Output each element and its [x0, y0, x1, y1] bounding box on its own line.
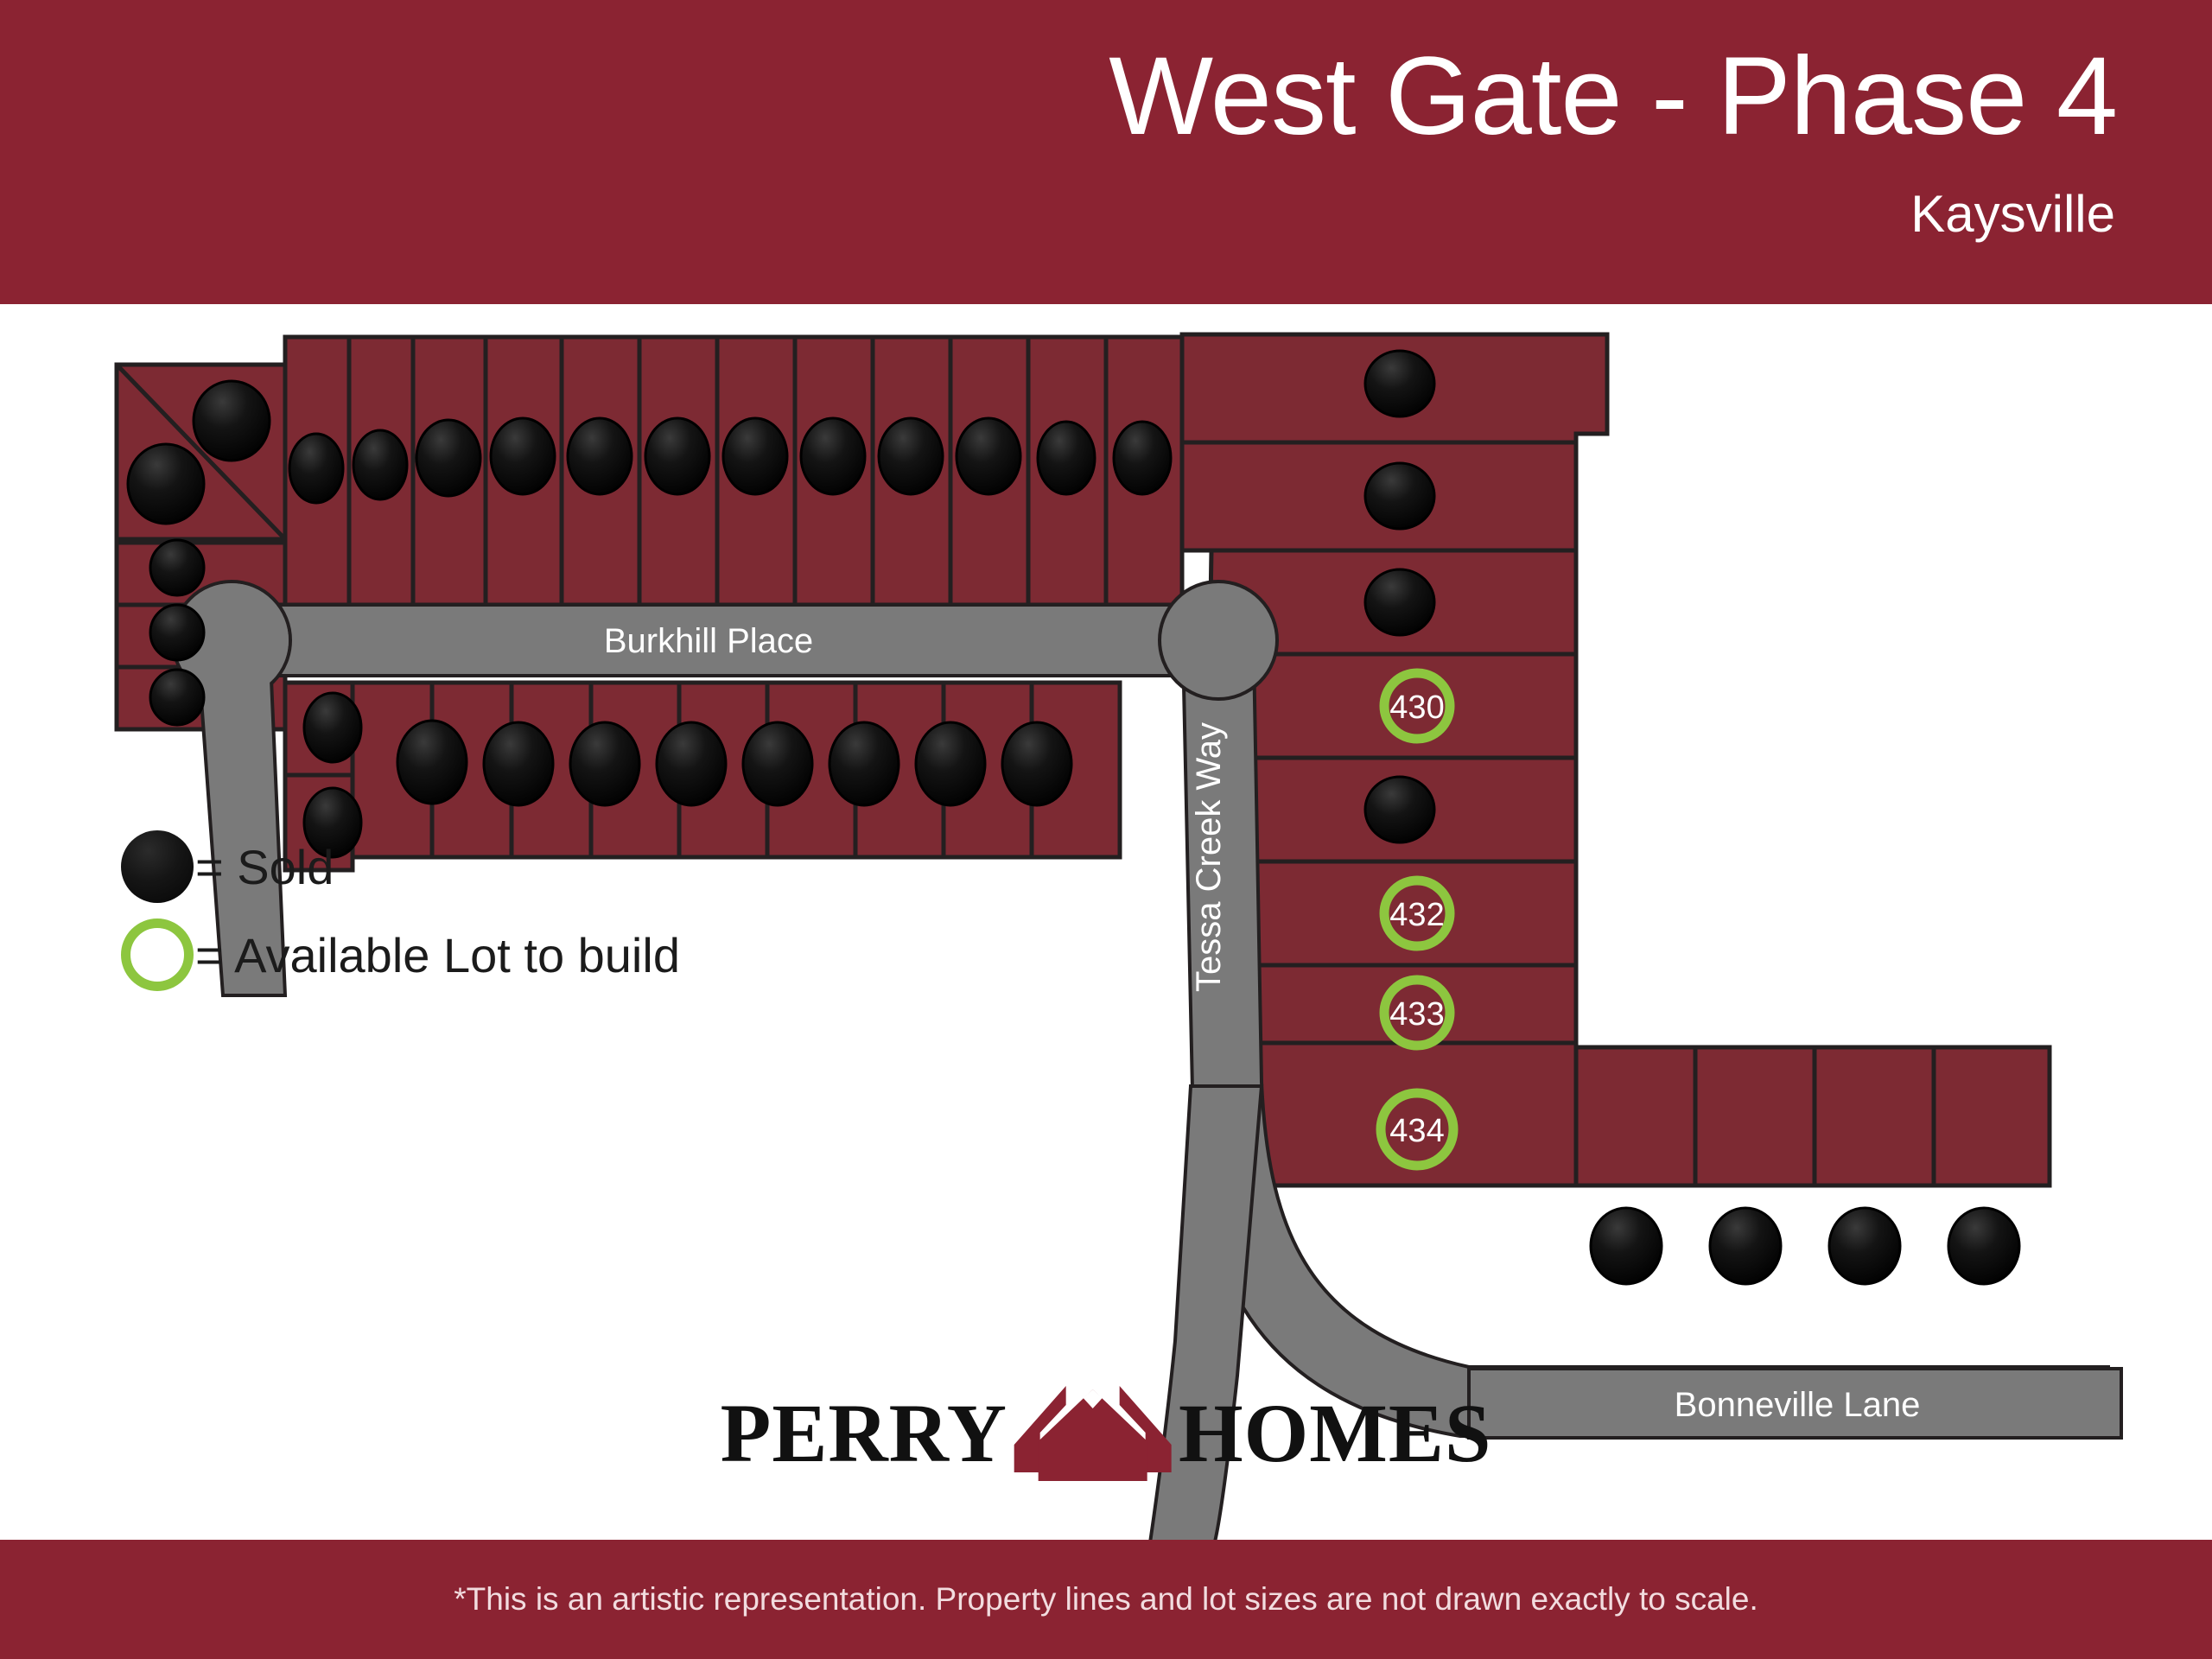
sold-circle-icon[interactable]	[289, 434, 343, 503]
sold-circle-icon[interactable]	[957, 418, 1020, 494]
sold-circle-icon[interactable]	[801, 418, 865, 494]
street-label-tessa-creek-way: Tessa Creek Way	[1190, 722, 1228, 992]
sold-circle-icon[interactable]	[353, 430, 407, 499]
sold-circle-icon[interactable]	[1948, 1208, 2019, 1284]
lot-parcel[interactable]	[1934, 1047, 2050, 1185]
street-label-bonneville-lane: Bonneville Lane	[1675, 1386, 1921, 1424]
lot-parcel[interactable]	[1576, 1047, 1695, 1185]
sold-circle-icon[interactable]	[743, 722, 812, 805]
site-plan-page: West Gate - Phase 4 Kaysville	[0, 0, 2212, 1659]
sold-circle-icon[interactable]	[1365, 351, 1434, 416]
sold-circle-icon[interactable]	[568, 418, 632, 494]
house-icon	[1011, 1382, 1175, 1484]
page-footer: *This is an artistic representation. Pro…	[0, 1540, 2212, 1659]
bulb-fill-2	[1162, 584, 1274, 696]
sold-circle-icon[interactable]	[1038, 422, 1095, 494]
sold-circle-icon[interactable]	[1710, 1208, 1781, 1284]
lot-parcel[interactable]	[1695, 1047, 1815, 1185]
sold-circle-icon[interactable]	[657, 722, 726, 805]
disclaimer-text: *This is an artistic representation. Pro…	[0, 1581, 2212, 1618]
sold-circle-icon[interactable]	[829, 722, 899, 805]
sold-circle-icon[interactable]	[723, 418, 787, 494]
sold-circle-icon[interactable]	[1114, 422, 1171, 494]
sold-circle-icon[interactable]	[1829, 1208, 1900, 1284]
sold-circle-icon[interactable]	[416, 420, 480, 496]
legend-item-sold: = Sold	[121, 825, 829, 908]
sold-circle-icon[interactable]	[1591, 1208, 1662, 1284]
sold-circle-icon[interactable]	[879, 418, 943, 494]
sold-circle-icon[interactable]	[397, 721, 467, 804]
page-header: West Gate - Phase 4 Kaysville	[0, 0, 2212, 304]
available-circle-icon	[121, 918, 194, 991]
sold-circle-icon[interactable]	[491, 418, 555, 494]
sold-circle-icon[interactable]	[150, 540, 204, 595]
lot-number-label: 434	[1389, 1113, 1444, 1149]
map-legend: = Sold = Available Lot to build	[121, 825, 829, 996]
legend-label-sold: = Sold	[195, 839, 334, 895]
legend-item-available: = Available Lot to build	[121, 913, 829, 996]
sold-circle-icon[interactable]	[150, 670, 204, 725]
sold-circle-icon[interactable]	[484, 722, 553, 805]
sold-circle-icon	[121, 830, 194, 903]
sold-circle-icon[interactable]	[1365, 777, 1434, 842]
sold-circle-icon[interactable]	[916, 722, 985, 805]
sold-circle-icon[interactable]	[1002, 722, 1071, 805]
sold-circle-icon[interactable]	[1365, 569, 1434, 635]
page-title: West Gate - Phase 4	[1109, 41, 2117, 152]
sold-circle-icon[interactable]	[194, 381, 270, 461]
sold-circle-icon[interactable]	[645, 418, 709, 494]
sold-circle-icon[interactable]	[150, 605, 204, 660]
page-subtitle: Kaysville	[1910, 188, 2115, 240]
perry-homes-logo: PERRY HOMES	[721, 1382, 1492, 1484]
lot-parcel[interactable]	[1815, 1047, 1934, 1185]
logo-word-homes: HOMES	[1179, 1392, 1491, 1475]
lot-number-label: 430	[1389, 690, 1444, 726]
sold-circle-icon[interactable]	[570, 722, 639, 805]
sold-circle-icon[interactable]	[128, 444, 204, 524]
sold-circle-icon[interactable]	[1365, 463, 1434, 529]
lot-number-label: 433	[1389, 996, 1444, 1033]
street-label-burkhill-place: Burkhill Place	[604, 622, 813, 660]
lot-number-label: 432	[1389, 897, 1444, 933]
logo-word-perry: PERRY	[721, 1392, 1007, 1475]
legend-label-available: = Available Lot to build	[195, 927, 680, 983]
sold-circle-icon[interactable]	[304, 693, 361, 762]
